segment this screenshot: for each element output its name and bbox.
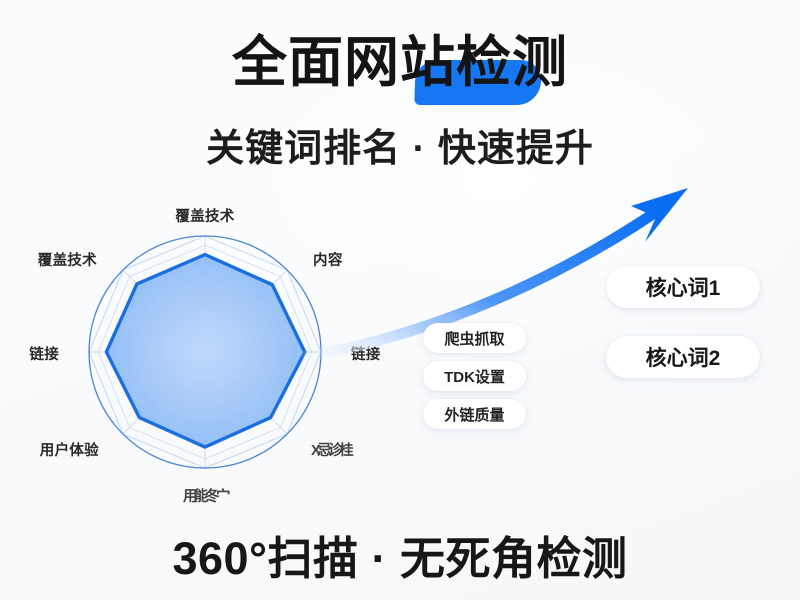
title-segment-2-highlighted: 网站 xyxy=(344,31,456,93)
check-pill-label: 爬虫抓取 xyxy=(444,328,504,349)
radar-label-4: 用能冬宀 xyxy=(183,485,227,506)
radar-label-3: X忌诊桂 xyxy=(311,439,350,460)
keyword-pill-label: 核心词1 xyxy=(646,272,721,302)
radar-label-7: 覆盖技术 xyxy=(38,249,97,270)
title-segment-1: 全面 xyxy=(232,31,344,93)
radar-series-polygon xyxy=(106,255,304,448)
check-pill-label: TDK设置 xyxy=(444,366,505,387)
keyword-pill-1[interactable]: 核心词1 xyxy=(606,266,760,308)
page-title: 全面网站检测 xyxy=(232,34,568,91)
keyword-pill-label: 核心词2 xyxy=(646,342,721,372)
radar-label-5: 用户体验 xyxy=(40,439,99,460)
title-segment-3: 检测 xyxy=(456,31,568,93)
page-subtitle: 关键词排名 · 快速提升 xyxy=(0,117,800,172)
poster-canvas: 全面网站检测 关键词排名 · 快速提升 覆盖技术 内容 链接 X忌诊桂 用能冬宀… xyxy=(0,0,800,600)
radar-label-0: 覆盖技术 xyxy=(175,205,234,226)
keyword-pill-2[interactable]: 核心词2 xyxy=(606,336,760,378)
title-block: 全面网站检测 xyxy=(0,34,800,91)
radar-label-6: 链接 xyxy=(29,343,59,364)
check-pill-crawl[interactable]: 爬虫抓取 xyxy=(423,323,526,353)
bottom-headline: 360°扫描 · 无死角检测 xyxy=(0,522,800,587)
check-pill-tdk[interactable]: TDK设置 xyxy=(423,361,526,391)
check-pill-label: 外链质量 xyxy=(444,404,504,425)
check-pill-backlink[interactable]: 外链质量 xyxy=(423,399,526,429)
